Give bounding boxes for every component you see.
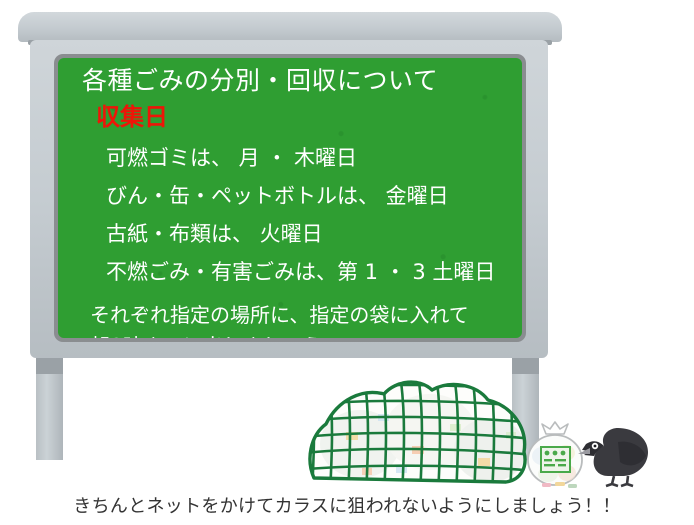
signboard-leg-left — [36, 352, 63, 460]
collection-item-4: 不燃ごみ・有害ごみは、第 1 ・ 3 土曜日 — [106, 262, 495, 283]
collection-item-2: びん・缶・ペットボトルは、 金曜日 — [106, 186, 449, 207]
board-note-2: 朝8時までに出しましょう — [90, 336, 323, 338]
bottom-caption: きちんとネットをかけてカラスに狙われないようにしましょう！！ — [0, 492, 694, 518]
poster-canvas: 各種ごみの分別・回収について 収集日 可燃ゴミは、 月 ・ 木曜日 びん・缶・ペ… — [0, 0, 694, 525]
board-subtitle: 収集日 — [96, 105, 168, 129]
panel-text-block: 各種ごみの分別・回収について 収集日 可燃ゴミは、 月 ・ 木曜日 びん・缶・ペ… — [58, 58, 522, 338]
crow — [578, 424, 652, 488]
signboard-bezel: 各種ごみの分別・回収について 収集日 可燃ゴミは、 月 ・ 木曜日 びん・缶・ペ… — [54, 54, 526, 342]
signboard-frame: 各種ごみの分別・回収について 収集日 可燃ゴミは、 月 ・ 木曜日 びん・缶・ペ… — [30, 40, 548, 358]
crow-legs — [606, 476, 633, 486]
signboard-panel: 各種ごみの分別・回収について 収集日 可燃ゴミは、 月 ・ 木曜日 びん・缶・ペ… — [58, 58, 522, 338]
garbage-net-pile — [300, 374, 540, 496]
bag-tie — [542, 422, 568, 434]
board-title: 各種ごみの分別・回収について — [82, 68, 438, 93]
signboard-top-cap — [18, 12, 562, 42]
board-note-1: それぞれ指定の場所に、指定の袋に入れて — [90, 305, 469, 325]
crow-pupil — [594, 445, 597, 448]
collection-item-1: 可燃ゴミは、 月 ・ 木曜日 — [106, 148, 357, 169]
collection-item-3: 古紙・布類は、 火曜日 — [106, 224, 323, 245]
